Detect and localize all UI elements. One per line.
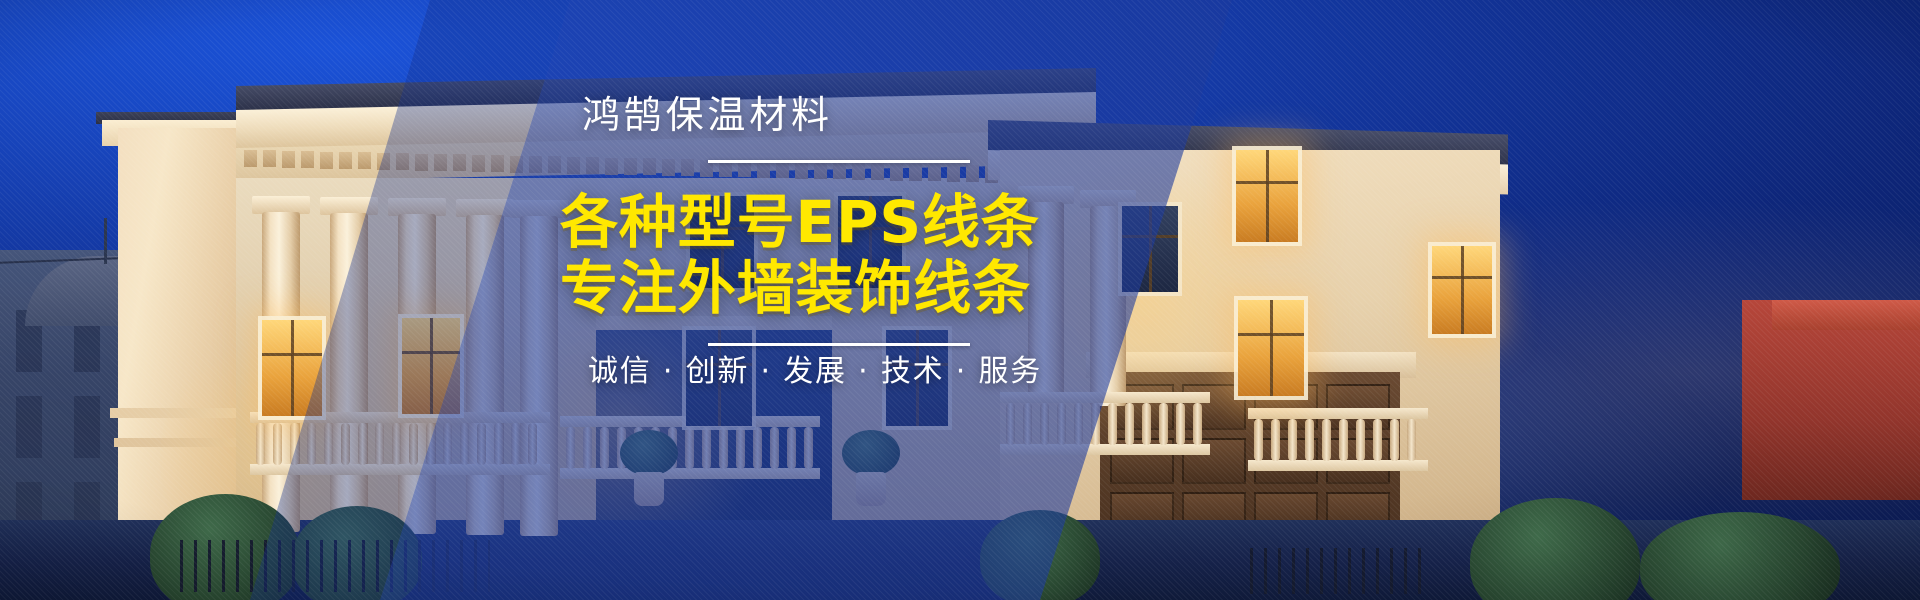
balustrade-rail [1248, 408, 1428, 419]
dentil-block [320, 152, 333, 169]
baluster [1193, 403, 1202, 445]
baluster [1159, 403, 1168, 445]
lit-window [1432, 246, 1492, 334]
window-transom [1432, 276, 1492, 279]
baluster [1373, 419, 1382, 461]
baluster [1271, 419, 1280, 461]
baluster [1125, 403, 1134, 445]
baluster [1339, 419, 1348, 461]
dentil-block [263, 150, 276, 167]
baluster [1288, 419, 1297, 461]
brand-name: 鸿鹄保温材料 [582, 96, 1278, 134]
divider-top [708, 160, 970, 163]
balustrade-base [1248, 460, 1428, 471]
baluster [1407, 419, 1416, 461]
headline-line-1: 各种型号EPS线条 [560, 189, 1278, 255]
dentil-block [301, 151, 314, 168]
dentil-block [244, 150, 257, 167]
baluster [1176, 403, 1185, 445]
hero-copy: 鸿鹄保温材料 各种型号EPS线条 专注外墙装饰线条 诚信 · 创新 · 发展 ·… [558, 96, 1278, 390]
window-mullion [291, 320, 294, 416]
baluster [273, 423, 282, 465]
baluster [256, 423, 265, 465]
headline-line-2: 专注外墙装饰线条 [560, 255, 1278, 321]
dentil-block [282, 151, 295, 168]
dentil-block [358, 152, 371, 169]
tagline: 诚信 · 创新 · 发展 · 技术 · 服务 [588, 346, 1278, 390]
dentil-block [339, 152, 352, 169]
far-right-structure [1742, 300, 1920, 500]
baluster [1390, 419, 1399, 461]
baluster [1108, 403, 1117, 445]
baluster [1254, 419, 1263, 461]
baluster [1305, 419, 1314, 461]
baluster [1142, 403, 1151, 445]
baluster [1356, 419, 1365, 461]
iron-railing [1250, 548, 1430, 594]
window-mullion [1461, 246, 1464, 334]
baluster [1322, 419, 1331, 461]
window-transom [262, 353, 322, 356]
far-right-structure-cap [1772, 300, 1920, 330]
hero-banner: 鸿鹄保温材料 各种型号EPS线条 专注外墙装饰线条 诚信 · 创新 · 发展 ·… [0, 0, 1920, 600]
